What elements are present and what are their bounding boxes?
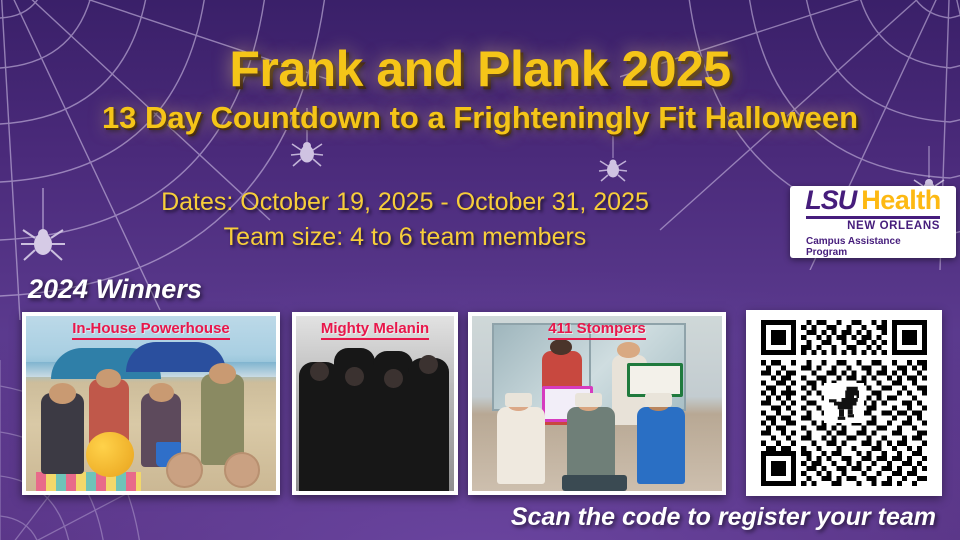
logo-health-text: Health [861, 187, 941, 214]
beach-ball [86, 432, 134, 478]
photo-caption: 411 Stompers [472, 320, 722, 337]
logo-wordmark: LSU Health [805, 187, 941, 214]
headband [575, 393, 603, 407]
winners-heading: 2024 Winners [28, 274, 202, 305]
headband [505, 393, 533, 407]
buried-head [224, 452, 261, 488]
logo-program-text: Campus Assistance Program [806, 236, 940, 258]
halloween-fitness-flyer: Frank and Plank 2025 13 Day Countdown to… [0, 0, 960, 540]
beach-scene-image [26, 316, 276, 491]
person-figure [408, 358, 449, 491]
photo-inner: In-House Powerhouse [26, 316, 276, 491]
page-title: Frank and Plank 2025 [0, 44, 960, 94]
winner-photo-in-house-powerhouse: In-House Powerhouse [22, 312, 280, 495]
person-head [345, 367, 364, 386]
photo-caption: Mighty Melanin [296, 320, 454, 337]
logo-divider [806, 216, 940, 219]
logo-city-text: NEW ORLEANS [806, 220, 940, 232]
registration-qr-code[interactable] [746, 310, 942, 496]
winner-photo-mighty-melanin: Mighty Melanin [292, 312, 458, 495]
beach-towel [36, 472, 141, 491]
person-head [149, 383, 174, 402]
exercise-mat [562, 475, 627, 491]
page-subtitle: 13 Day Countdown to a Frighteningly Fit … [0, 102, 960, 135]
person-head [209, 363, 237, 384]
person-head [550, 339, 573, 355]
gym-lobby-image [472, 316, 722, 491]
buried-head [166, 452, 203, 488]
person-head [384, 369, 403, 388]
person-head [617, 342, 640, 358]
team-size-line: Team size: 4 to 6 team members [0, 220, 810, 255]
group-photo-bw-image [296, 316, 454, 491]
person-head [96, 369, 121, 388]
person-figure [567, 407, 615, 484]
person-head [419, 355, 438, 374]
winner-photo-411-stompers: 411 Stompers [468, 312, 726, 495]
person-figure [637, 407, 685, 484]
lsu-health-logo: LSU Health NEW ORLEANS Campus Assistance… [790, 186, 956, 258]
person-head [310, 362, 329, 381]
photo-inner: Mighty Melanin [296, 316, 454, 491]
person-figure [41, 393, 84, 474]
headband [645, 393, 673, 407]
person-head [49, 383, 77, 404]
dates-line: Dates: October 19, 2025 - October 31, 20… [0, 185, 810, 220]
scan-caption: Scan the code to register your team [511, 503, 936, 532]
person-figure [497, 407, 545, 484]
qr-box[interactable] [761, 320, 927, 486]
photo-caption: In-House Powerhouse [26, 320, 276, 337]
dinosaur-icon [824, 383, 864, 423]
person-figure [201, 374, 244, 465]
logo-lsu-text: LSU [805, 187, 856, 214]
photo-inner: 411 Stompers [472, 316, 722, 491]
title-block: Frank and Plank 2025 13 Day Countdown to… [0, 44, 960, 135]
spider-top-right-icon [598, 130, 628, 186]
